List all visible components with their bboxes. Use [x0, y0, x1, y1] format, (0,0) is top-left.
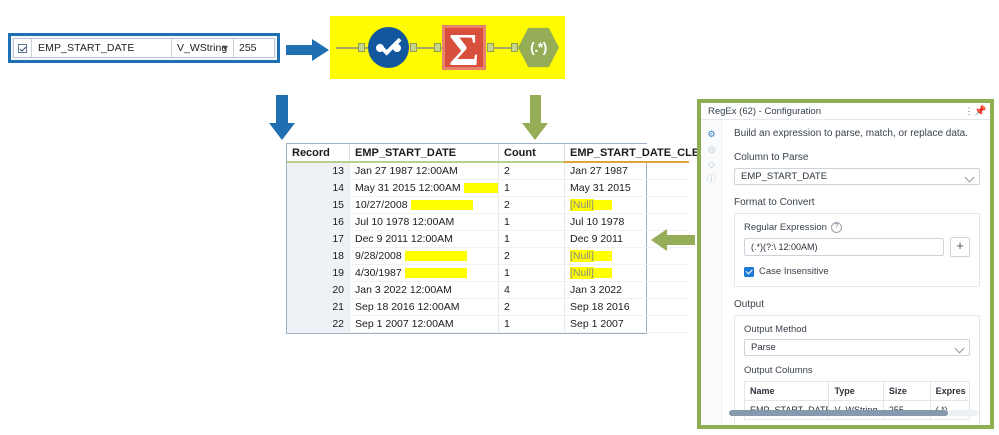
connector-anchor	[511, 43, 518, 52]
output-column-header-expression: Expres	[930, 382, 969, 401]
cell-emp-start-date-clean: May 31 2015	[565, 180, 690, 197]
regular-expression-input[interactable]: (.*)(?:\ 12:00AM)	[744, 238, 944, 256]
table-row[interactable]: 21Sep 18 2016 12:00AM2Sep 18 2016	[287, 299, 689, 316]
cell-record: 17	[287, 231, 350, 248]
cell-emp-start-date: May 31 2015 12:00AM	[350, 180, 499, 197]
column-to-parse-value: EMP_START_DATE	[741, 171, 827, 182]
output-columns-label: Output Columns	[744, 365, 970, 376]
select-field-row[interactable]: EMP_START_DATE V_WString 255	[13, 38, 275, 58]
select-tool-icon[interactable]	[368, 27, 409, 68]
format-to-convert-label: Format to Convert	[734, 197, 980, 208]
more-options-icon[interactable]: ⋮	[964, 108, 974, 115]
select-field-type-value: V_WString	[177, 42, 227, 54]
checkbox-checked-icon	[18, 44, 27, 53]
cell-count: 4	[499, 282, 565, 299]
table-row[interactable]: 20Jan 3 2022 12:00AM4Jan 3 2022	[287, 282, 689, 299]
connector-anchor	[358, 43, 365, 52]
config-titlebar: RegEx (62) - Configuration ⋮ 📌	[701, 103, 990, 120]
cell-record: 22	[287, 316, 350, 333]
cell-record: 13	[287, 162, 350, 180]
output-columns-header-row: Name Type Size Expres	[745, 382, 970, 401]
table-row[interactable]: 189/28/20082[Null]	[287, 248, 689, 265]
output-column-header-type: Type	[829, 382, 883, 401]
cell-record: 16	[287, 214, 350, 231]
table-header-row: Record EMP_START_DATE Count EMP_START_DA…	[287, 144, 689, 162]
column-header-record[interactable]: Record	[287, 144, 350, 162]
cell-record: 14	[287, 180, 350, 197]
arrow-select-to-canvas-icon	[286, 36, 330, 64]
table-row[interactable]: 194/30/19871[Null]	[287, 265, 689, 282]
scrollbar-thumb[interactable]	[729, 410, 948, 416]
workflow-canvas: Σ (.*)	[330, 16, 565, 79]
config-sidebar: ⚙ ◎ ◇ ⓘ	[701, 120, 722, 425]
connector-anchor	[434, 43, 441, 52]
pin-icon[interactable]: 📌	[974, 106, 986, 117]
cell-record: 20	[287, 282, 350, 299]
case-insensitive-label: Case Insensitive	[759, 266, 829, 277]
chevron-down-icon	[222, 46, 228, 50]
cell-emp-start-date-clean: [Null]	[565, 197, 690, 214]
highlight-marker	[405, 251, 467, 261]
select-field-checkbox[interactable]	[14, 39, 32, 57]
cell-record: 15	[287, 197, 350, 214]
cell-count: 2	[499, 248, 565, 265]
help-icon[interactable]: ?	[831, 222, 842, 233]
cell-emp-start-date-clean: [Null]	[565, 265, 690, 282]
cell-emp-start-date: Sep 18 2016 12:00AM	[350, 299, 499, 316]
cell-emp-start-date-clean: Sep 18 2016	[565, 299, 690, 316]
select-field-name[interactable]: EMP_START_DATE	[32, 39, 172, 57]
highlight-marker	[405, 268, 467, 278]
case-insensitive-checkbox[interactable]: Case Insensitive	[744, 266, 970, 277]
select-field-type-dropdown[interactable]: V_WString	[172, 39, 234, 57]
cell-count: 2	[499, 162, 565, 180]
cell-record: 19	[287, 265, 350, 282]
help-icon[interactable]: ⓘ	[701, 172, 722, 187]
highlight-marker	[464, 183, 499, 193]
chevron-down-icon	[965, 173, 975, 183]
target-icon[interactable]: ◎	[701, 142, 722, 157]
output-group: Output Method Parse Output Columns Name …	[734, 315, 980, 425]
select-field-panel: EMP_START_DATE V_WString 255	[8, 33, 280, 63]
output-method-value: Parse	[751, 342, 776, 353]
cell-emp-start-date: Sep 1 2007 12:00AM	[350, 316, 499, 333]
regular-expression-label: Regular Expression	[744, 222, 827, 233]
config-description: Build an expression to parse, match, or …	[734, 128, 980, 139]
highlight-marker	[594, 251, 612, 261]
output-column-header-size: Size	[883, 382, 930, 401]
cell-count: 2	[499, 299, 565, 316]
cell-count: 1	[499, 265, 565, 282]
output-method-label: Output Method	[744, 324, 970, 335]
arrow-canvas-to-table-icon	[265, 95, 301, 141]
config-horizontal-scrollbar[interactable]	[729, 410, 978, 416]
cell-count: 1	[499, 231, 565, 248]
tag-icon[interactable]: ◇	[701, 157, 722, 172]
output-column-header-name: Name	[745, 382, 829, 401]
cell-emp-start-date: 9/28/2008	[350, 248, 499, 265]
cell-count: 1	[499, 180, 565, 197]
cell-emp-start-date-clean: Jan 27 1987	[565, 162, 690, 180]
cell-emp-start-date: 10/27/2008	[350, 197, 499, 214]
cell-emp-start-date: Jan 3 2022 12:00AM	[350, 282, 499, 299]
cell-count: 1	[499, 316, 565, 333]
cell-emp-start-date: Jan 27 1987 12:00AM	[350, 162, 499, 180]
check-shape	[377, 31, 401, 55]
regular-expression-row: (.*)(?:\ 12:00AM) +	[744, 237, 970, 257]
highlight-marker	[411, 200, 473, 210]
regex-configuration-panel: RegEx (62) - Configuration ⋮ 📌 ⚙ ◎ ◇ ⓘ B…	[697, 99, 994, 429]
checkbox-checked-icon	[744, 267, 754, 277]
table-row[interactable]: 14May 31 2015 12:00AM1May 31 2015	[287, 180, 689, 197]
cell-record: 18	[287, 248, 350, 265]
results-table: Record EMP_START_DATE Count EMP_START_DA…	[287, 144, 689, 333]
cell-emp-start-date: 4/30/1987	[350, 265, 499, 282]
table-row[interactable]: 22Sep 1 2007 12:00AM1Sep 1 2007	[287, 316, 689, 333]
cell-emp-start-date-clean: Jan 3 2022	[565, 282, 690, 299]
cell-record: 21	[287, 299, 350, 316]
column-header-emp-start-date-clean[interactable]: EMP_START_DATE_CLEAN	[565, 144, 690, 162]
column-header-emp-start-date[interactable]: EMP_START_DATE	[350, 144, 499, 162]
gear-icon[interactable]: ⚙	[701, 127, 722, 142]
config-title: RegEx (62) - Configuration	[708, 106, 964, 117]
summarize-tool-icon[interactable]: Σ	[442, 25, 486, 70]
results-table-body: 13Jan 27 1987 12:00AM2Jan 27 198714May 3…	[287, 162, 689, 333]
table-row[interactable]: 1510/27/20082[Null]	[287, 197, 689, 214]
table-row[interactable]: 17Dec 9 2011 12:00AM1Dec 9 2011	[287, 231, 689, 248]
add-expression-button[interactable]: +	[950, 237, 970, 257]
column-to-parse-label: Column to Parse	[734, 152, 980, 163]
table-row[interactable]: 13Jan 27 1987 12:00AM2Jan 27 1987	[287, 162, 689, 180]
select-field-size[interactable]: 255	[234, 39, 274, 57]
arrow-canvas-to-config-icon	[519, 95, 553, 141]
output-method-dropdown[interactable]: Parse	[744, 339, 970, 356]
results-table-panel: Record EMP_START_DATE Count EMP_START_DA…	[286, 143, 647, 334]
cell-emp-start-date: Dec 9 2011 12:00AM	[350, 231, 499, 248]
column-to-parse-dropdown[interactable]: EMP_START_DATE	[734, 168, 980, 185]
highlight-marker	[594, 200, 612, 210]
output-label: Output	[734, 299, 980, 310]
regex-tool-icon[interactable]: (.*)	[518, 27, 559, 68]
arrow-config-to-table-icon	[650, 228, 696, 252]
highlight-marker	[594, 268, 612, 278]
cell-emp-start-date: Jul 10 1978 12:00AM	[350, 214, 499, 231]
cell-count: 2	[499, 197, 565, 214]
cell-emp-start-date-clean: Sep 1 2007	[565, 316, 690, 333]
cell-count: 1	[499, 214, 565, 231]
column-header-count[interactable]: Count	[499, 144, 565, 162]
table-row[interactable]: 16Jul 10 1978 12:00AM1Jul 10 1978	[287, 214, 689, 231]
format-to-convert-group: Regular Expression ? (.*)(?:\ 12:00AM) +…	[734, 213, 980, 287]
chevron-down-icon	[955, 344, 965, 354]
config-body: Build an expression to parse, match, or …	[722, 120, 990, 425]
regular-expression-label-row: Regular Expression ?	[744, 222, 970, 233]
